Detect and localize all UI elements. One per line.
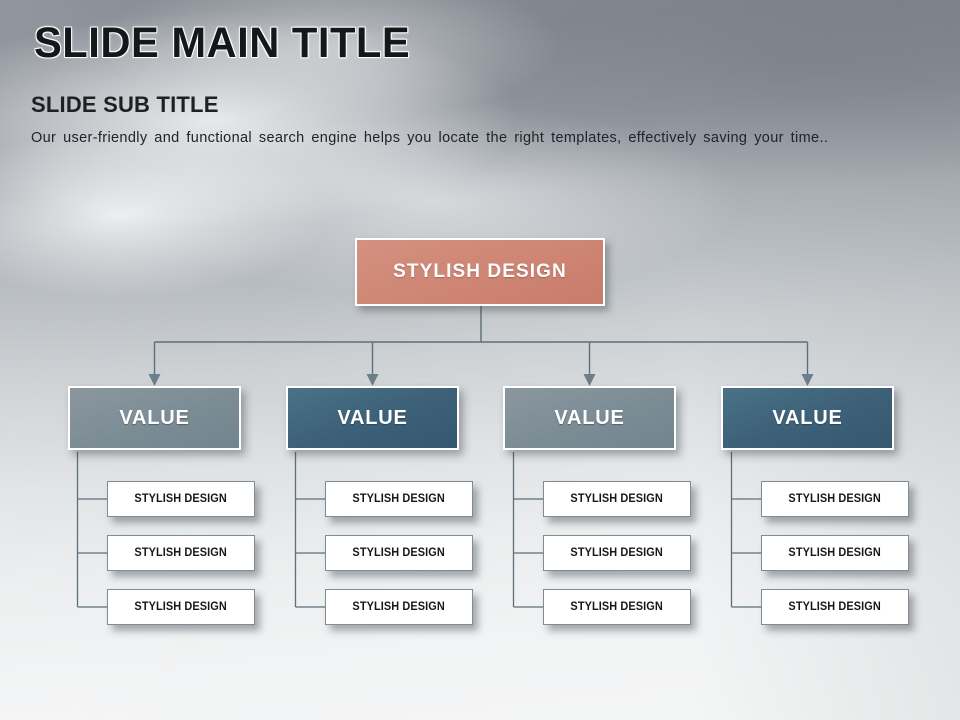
branch-node-2[interactable]: VALUE bbox=[286, 386, 459, 450]
leaf-node-2-3[interactable]: STYLISH DESIGN bbox=[325, 589, 473, 625]
page-title: SLIDE MAIN TITLE bbox=[34, 20, 410, 66]
page-description: Our user-friendly and functional search … bbox=[31, 129, 828, 148]
branch-node-4[interactable]: VALUE bbox=[721, 386, 894, 450]
leaf-node-3-1[interactable]: STYLISH DESIGN bbox=[543, 481, 691, 517]
leaf-node-1-1-label: STYLISH DESIGN bbox=[135, 493, 227, 505]
leaf-node-1-2[interactable]: STYLISH DESIGN bbox=[107, 535, 255, 571]
leaf-node-4-3[interactable]: STYLISH DESIGN bbox=[761, 589, 909, 625]
leaf-node-2-2[interactable]: STYLISH DESIGN bbox=[325, 535, 473, 571]
branch-node-4-label: VALUE bbox=[772, 407, 842, 430]
leaf-node-3-2-label: STYLISH DESIGN bbox=[571, 547, 663, 559]
leaf-node-3-3[interactable]: STYLISH DESIGN bbox=[543, 589, 691, 625]
leaf-node-1-2-label: STYLISH DESIGN bbox=[135, 547, 227, 559]
leaf-node-1-1[interactable]: STYLISH DESIGN bbox=[107, 481, 255, 517]
leaf-node-2-1-label: STYLISH DESIGN bbox=[353, 493, 445, 505]
branch-node-1[interactable]: VALUE bbox=[68, 386, 241, 450]
leaf-node-2-3-label: STYLISH DESIGN bbox=[353, 601, 445, 613]
page-subtitle: SLIDE SUB TITLE bbox=[31, 92, 219, 118]
root-node[interactable]: STYLISH DESIGN bbox=[355, 238, 605, 306]
leaf-node-4-3-label: STYLISH DESIGN bbox=[789, 601, 881, 613]
branch-node-2-label: VALUE bbox=[337, 407, 407, 430]
leaf-node-3-1-label: STYLISH DESIGN bbox=[571, 493, 663, 505]
slide-canvas: SLIDE MAIN TITLE SLIDE SUB TITLE Our use… bbox=[0, 0, 960, 720]
leaf-node-2-1[interactable]: STYLISH DESIGN bbox=[325, 481, 473, 517]
leaf-node-4-2[interactable]: STYLISH DESIGN bbox=[761, 535, 909, 571]
leaf-node-4-1[interactable]: STYLISH DESIGN bbox=[761, 481, 909, 517]
branch-node-3-label: VALUE bbox=[554, 407, 624, 430]
leaf-node-4-2-label: STYLISH DESIGN bbox=[789, 547, 881, 559]
leaf-node-1-3[interactable]: STYLISH DESIGN bbox=[107, 589, 255, 625]
leaf-node-1-3-label: STYLISH DESIGN bbox=[135, 601, 227, 613]
leaf-node-2-2-label: STYLISH DESIGN bbox=[353, 547, 445, 559]
leaf-node-4-1-label: STYLISH DESIGN bbox=[789, 493, 881, 505]
branch-node-1-label: VALUE bbox=[119, 407, 189, 430]
leaf-node-3-3-label: STYLISH DESIGN bbox=[571, 601, 663, 613]
leaf-node-3-2[interactable]: STYLISH DESIGN bbox=[543, 535, 691, 571]
branch-node-3[interactable]: VALUE bbox=[503, 386, 676, 450]
root-node-label: STYLISH DESIGN bbox=[393, 261, 567, 283]
